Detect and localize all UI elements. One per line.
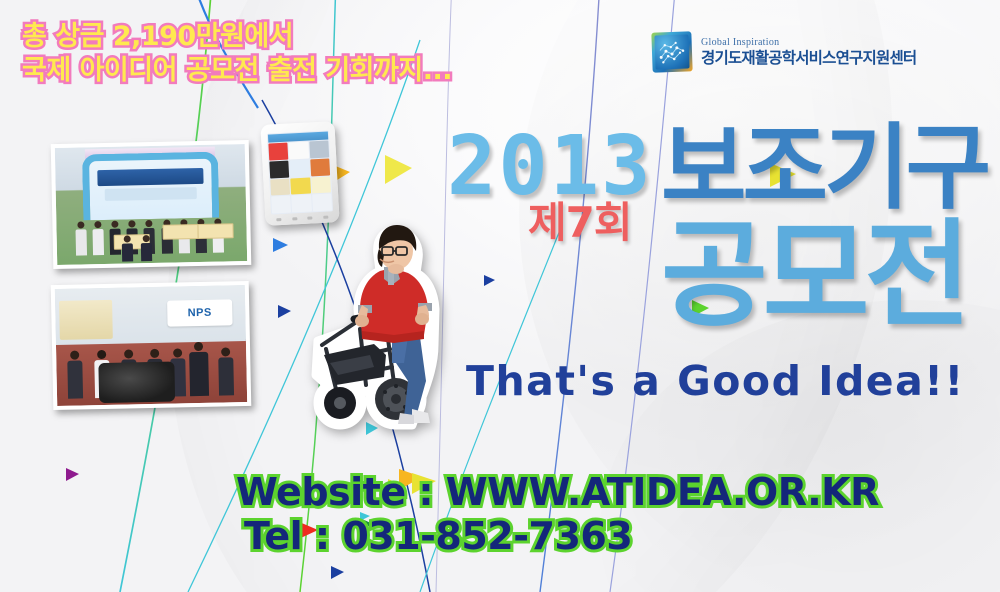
network-diamond-logo-icon [651, 31, 692, 72]
title-year: 2013 [447, 126, 652, 208]
title-korean-line-2: 공모전 [661, 218, 966, 334]
promotional-poster: 총 상금 2,190만원에서 국제 아이디어 공모전 출전 기회까지... [0, 0, 1000, 592]
title-edition: 제7회 [528, 202, 632, 244]
award-ceremony-photo [51, 140, 252, 269]
organization-logo: Global Inspiration 경기도재활공학서비스연구지원센터 [652, 32, 916, 72]
telephone-line: Tel : 031-852-7363 [244, 514, 879, 558]
logo-english-tagline: Global Inspiration [701, 38, 916, 48]
headline-line-1: 총 상금 2,190만원에서 [22, 20, 452, 54]
nps-booth-sign: NPS [167, 299, 232, 326]
website-line[interactable]: Website : WWW.ATIDEA.OR.KR [236, 470, 879, 514]
tablet-device-photo [260, 121, 339, 226]
tagline: That's a Good Idea!! [466, 358, 965, 404]
exhibition-booth-photo: NPS [51, 281, 252, 410]
title-korean-line-1: 보조기구 [661, 122, 987, 215]
headline: 총 상금 2,190만원에서 국제 아이디어 공모전 출전 기회까지... [22, 20, 452, 88]
headline-line-2: 국제 아이디어 공모전 출전 기회까지... [22, 54, 452, 88]
logo-korean-name: 경기도재활공학서비스연구지원센터 [701, 51, 916, 67]
contact-block: Website : WWW.ATIDEA.OR.KR Tel : 031-852… [236, 470, 879, 558]
walker-user-photo [300, 213, 465, 438]
